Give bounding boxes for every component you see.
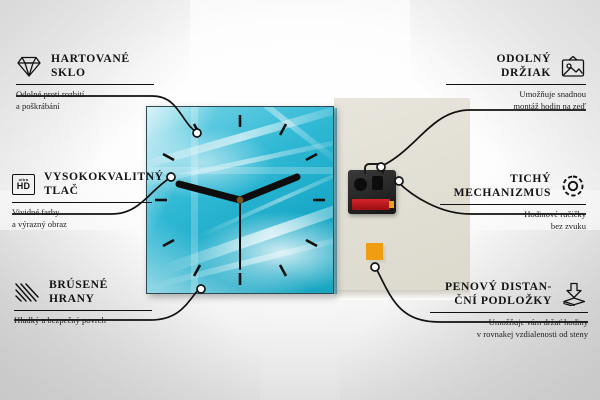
feature-divider — [12, 202, 152, 203]
feature-silent-mechanism: TICHÝ MECHANIZMUS Hodinové ručičky bez z… — [440, 172, 586, 232]
feature-header: ODOLNÝ DRŽIAK — [446, 52, 586, 80]
feature-header: BRÚSENÉ HRANY — [14, 278, 152, 306]
feature-divider — [440, 204, 586, 205]
feature-title: TICHÝ MECHANIZMUS — [454, 172, 551, 200]
feature-divider — [430, 312, 588, 313]
feature-title: PENOVÝ DISTAN- ČNÍ PODLOŽKY — [445, 280, 552, 308]
foam-spacer-arrow-icon — [561, 282, 588, 306]
feature-header: TICHÝ MECHANIZMUS — [440, 172, 586, 200]
gear-icon — [560, 174, 586, 198]
feature-header: ultra HD VYSOKOKVALITNÝ TLAČ — [12, 170, 152, 198]
feature-title: BRÚSENÉ HRANY — [49, 278, 108, 306]
infographic-canvas: HARTOVANÉ SKLO Odolné proti rozbití a po… — [0, 0, 600, 400]
ultra-hd-badge-icon: ultra HD — [12, 174, 35, 195]
feature-foam-spacers: PENOVÝ DISTAN- ČNÍ PODLOŽKY Umožňuje vám… — [430, 280, 588, 340]
feature-description: Odolné proti rozbití a poškrábání — [16, 89, 154, 112]
ground-edges-icon — [14, 281, 40, 304]
diamond-icon — [16, 55, 42, 78]
feature-ground-edges: BRÚSENÉ HRANY Hladký a bezpečný povrch — [14, 278, 152, 327]
feature-title: ODOLNÝ DRŽIAK — [497, 52, 552, 80]
feature-description: Umožňuje snadnou montáž hodin na zeď — [446, 89, 586, 112]
feature-description: Hodinové ručičky bez zvuku — [440, 209, 586, 232]
wall-hanger-frame-icon — [560, 55, 586, 78]
feature-divider — [14, 310, 152, 311]
feature-description: Hladký a bezpečný povrch — [14, 315, 152, 326]
feature-hardened-glass: HARTOVANÉ SKLO Odolné proti rozbití a po… — [16, 52, 154, 112]
feature-description: Vividné farby a výrazný obraz — [12, 207, 152, 230]
badge-hd-label: HD — [17, 182, 31, 191]
feature-header: HARTOVANÉ SKLO — [16, 52, 154, 80]
feature-title: VYSOKOKVALITNÝ TLAČ — [44, 170, 164, 198]
feature-title: HARTOVANÉ SKLO — [51, 52, 130, 80]
feature-divider — [16, 84, 154, 85]
feature-high-quality-print: ultra HD VYSOKOKVALITNÝ TLAČ Vividné far… — [12, 170, 152, 230]
feature-header: PENOVÝ DISTAN- ČNÍ PODLOŽKY — [430, 280, 588, 308]
feature-durable-hanger: ODOLNÝ DRŽIAK Umožňuje snadnou montáž ho… — [446, 52, 586, 112]
feature-divider — [446, 84, 586, 85]
feature-description: Umožňuje vám držať hodiny v rovnakej vzd… — [430, 317, 588, 340]
